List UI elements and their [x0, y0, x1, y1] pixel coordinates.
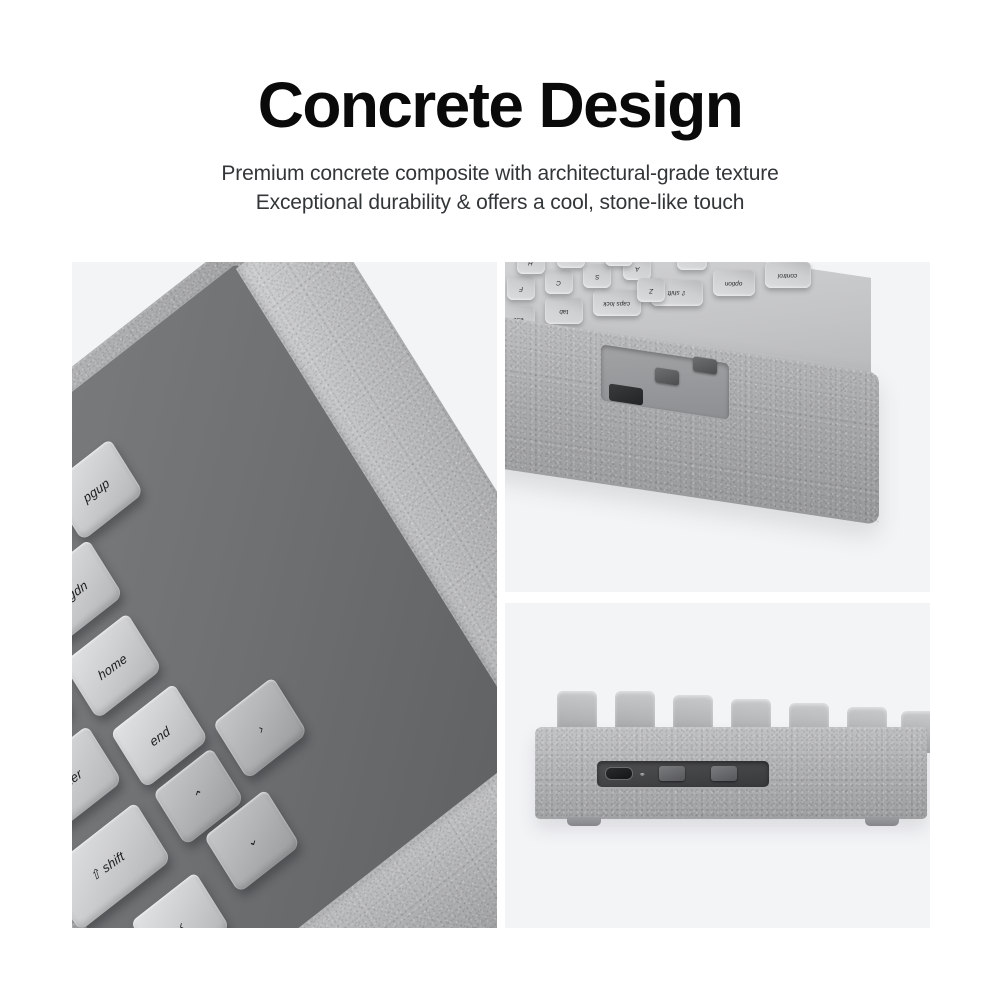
rubber-foot	[567, 817, 601, 826]
subtitle-block: Premium concrete composite with architec…	[0, 159, 1000, 219]
keycap: Z	[637, 278, 665, 302]
keyboard-inverted-view: esc tab caps lock ⇧ shift option control…	[505, 262, 930, 592]
keycap-caps-lock: caps lock	[593, 290, 641, 316]
keycap: G	[557, 262, 585, 268]
keycap-option: option	[713, 270, 755, 296]
product-image-rear-io: ⚭	[505, 603, 930, 928]
keycap: C	[545, 270, 573, 294]
page-title: Concrete Design	[0, 72, 1000, 139]
keycap-tab: tab	[545, 298, 583, 324]
keycap: H	[517, 262, 545, 274]
toggle-switch-os	[659, 766, 685, 781]
keycap: F	[507, 276, 535, 300]
keycap: S	[583, 264, 611, 288]
subtitle-line-2: Exceptional durability & offers a cool, …	[0, 188, 1000, 218]
usb-c-port	[605, 767, 633, 780]
product-image-inverted: esc tab caps lock ⇧ shift option control…	[505, 262, 930, 592]
rubber-foot	[865, 817, 899, 826]
subtitle-line-1: Premium concrete composite with architec…	[0, 159, 1000, 189]
keyboard-isometric-corner: l ö pgup kspace pgdn \ home ↵ enter end …	[72, 262, 497, 928]
header: Concrete Design Premium concrete composi…	[0, 0, 1000, 218]
image-gallery: l ö pgup kspace pgdn \ home ↵ enter end …	[72, 262, 930, 928]
keyboard-rear-profile: ⚭	[535, 691, 930, 871]
toggle-switch-connection	[711, 766, 737, 781]
usb-icon: ⚭	[639, 770, 645, 779]
keycap-command: ⌘	[677, 262, 707, 270]
keycap-control: control	[765, 262, 811, 288]
keycap: X	[605, 262, 633, 266]
product-image-main: l ö pgup kspace pgdn \ home ↵ enter end …	[72, 262, 497, 928]
